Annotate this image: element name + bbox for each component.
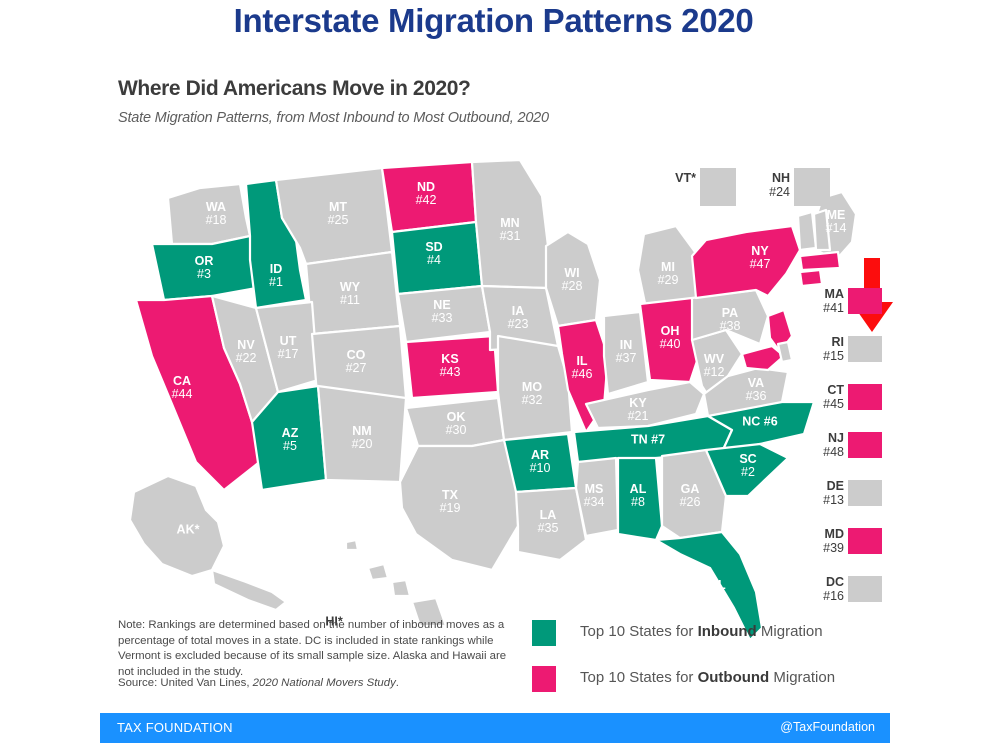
state-shape-TX[interactable] [400, 440, 518, 570]
map-swatch-MD-label: MD#39 [823, 528, 844, 555]
map-swatch-DE-label: DE#13 [823, 480, 844, 507]
state-shape-IN[interactable] [604, 312, 648, 394]
map-callout-NH[interactable]: NH#24 [794, 168, 830, 206]
map-swatch-MD-color[interactable] [848, 528, 882, 554]
state-shape-MAs[interactable] [800, 252, 840, 270]
map-swatch-RI-color[interactable] [848, 336, 882, 362]
map-swatch-CT-label: CT#45 [823, 384, 844, 411]
state-shape-AK-tail[interactable] [212, 570, 286, 610]
state-shape-CTs[interactable] [800, 270, 822, 286]
state-shape-NY[interactable] [692, 226, 800, 298]
legend-swatch-inbound [532, 620, 556, 646]
legend-item-outbound: Top 10 States for Outbound Migration [532, 666, 882, 712]
state-shape-AK[interactable] [130, 476, 224, 576]
map-swatch-MA[interactable]: MA#41 [848, 288, 882, 314]
map-swatch-NJ-label: NJ#48 [823, 432, 844, 459]
map-callout-VT[interactable]: VT* [700, 168, 736, 206]
map-swatch-RI-label: RI#15 [823, 336, 844, 363]
map-callout-NH-swatch[interactable] [794, 168, 830, 206]
footer-brand: TAX FOUNDATION [117, 720, 233, 735]
state-shape-SD[interactable] [392, 222, 482, 294]
map-swatch-MA-label: MA#41 [823, 288, 844, 315]
map-swatch-DC-label: DC#16 [823, 576, 844, 603]
map-swatch-DE[interactable]: DE#13 [848, 480, 882, 506]
map-swatch-RI[interactable]: RI#15 [848, 336, 882, 362]
legend-label-inbound: Top 10 States for Inbound Migration [580, 623, 823, 640]
state-shape-HI-1[interactable] [346, 540, 358, 550]
map-callout-VT-label: VT* [675, 172, 696, 186]
page-title: Interstate Migration Patterns 2020 [0, 2, 987, 40]
chart-source: Source: United Van Lines, 2020 National … [118, 677, 399, 689]
state-shape-WA[interactable] [168, 184, 250, 244]
state-shape-MDs[interactable] [742, 346, 784, 370]
chart-card: Where Did Americans Move in 2020? State … [100, 55, 890, 751]
legend-label-outbound: Top 10 States for Outbound Migration [580, 669, 835, 686]
map-swatch-CT[interactable]: CT#45 [848, 384, 882, 410]
legend-swatch-outbound [532, 666, 556, 692]
state-shape-LA[interactable] [516, 488, 586, 560]
map-swatch-CT-color[interactable] [848, 384, 882, 410]
map-swatch-MA-color[interactable] [848, 288, 882, 314]
legend-item-inbound: Top 10 States for Inbound Migration [532, 620, 882, 666]
map-callout-NH-label: NH#24 [769, 172, 790, 199]
chart-heading: Where Did Americans Move in 2020? [118, 77, 470, 101]
map-swatch-DE-color[interactable] [848, 480, 882, 506]
state-shape-OK[interactable] [406, 398, 504, 446]
state-shape-NM[interactable] [318, 386, 406, 482]
footer-handle[interactable]: @TaxFoundation [780, 720, 875, 734]
map-swatch-DC[interactable]: DC#16 [848, 576, 882, 602]
map-swatch-NJ-color[interactable] [848, 432, 882, 458]
state-shape-NE[interactable] [398, 286, 490, 342]
map-swatch-MD[interactable]: MD#39 [848, 528, 882, 554]
state-shape-HI-3[interactable] [392, 580, 410, 596]
map-swatch-NJ[interactable]: NJ#48 [848, 432, 882, 458]
state-shape-OR[interactable] [152, 236, 256, 300]
state-shape-ND[interactable] [382, 162, 476, 232]
state-shape-WI[interactable] [546, 232, 600, 326]
state-shape-MN[interactable] [472, 160, 548, 288]
chart-legend: Top 10 States for Inbound Migration Top … [532, 620, 882, 712]
state-shape-NHs[interactable] [814, 210, 830, 250]
map-swatch-DC-color[interactable] [848, 576, 882, 602]
chart-note: Note: Rankings are determined based on t… [118, 618, 518, 681]
map-callout-VT-swatch[interactable] [700, 168, 736, 206]
us-choropleth-map: WA#18 OR#3 ID#1 MT#25 WY#11 CA#44 NV#22 … [100, 140, 890, 660]
state-shape-AR[interactable] [504, 434, 576, 492]
footer-bar: TAX FOUNDATION @TaxFoundation [100, 713, 890, 743]
state-shape-KS[interactable] [406, 336, 498, 398]
map-svg [100, 140, 890, 660]
chart-subheading: State Migration Patterns, from Most Inbo… [118, 110, 549, 126]
state-shape-AL[interactable] [618, 458, 662, 540]
state-shape-WY[interactable] [306, 252, 400, 334]
state-shape-HI-2[interactable] [368, 564, 388, 580]
